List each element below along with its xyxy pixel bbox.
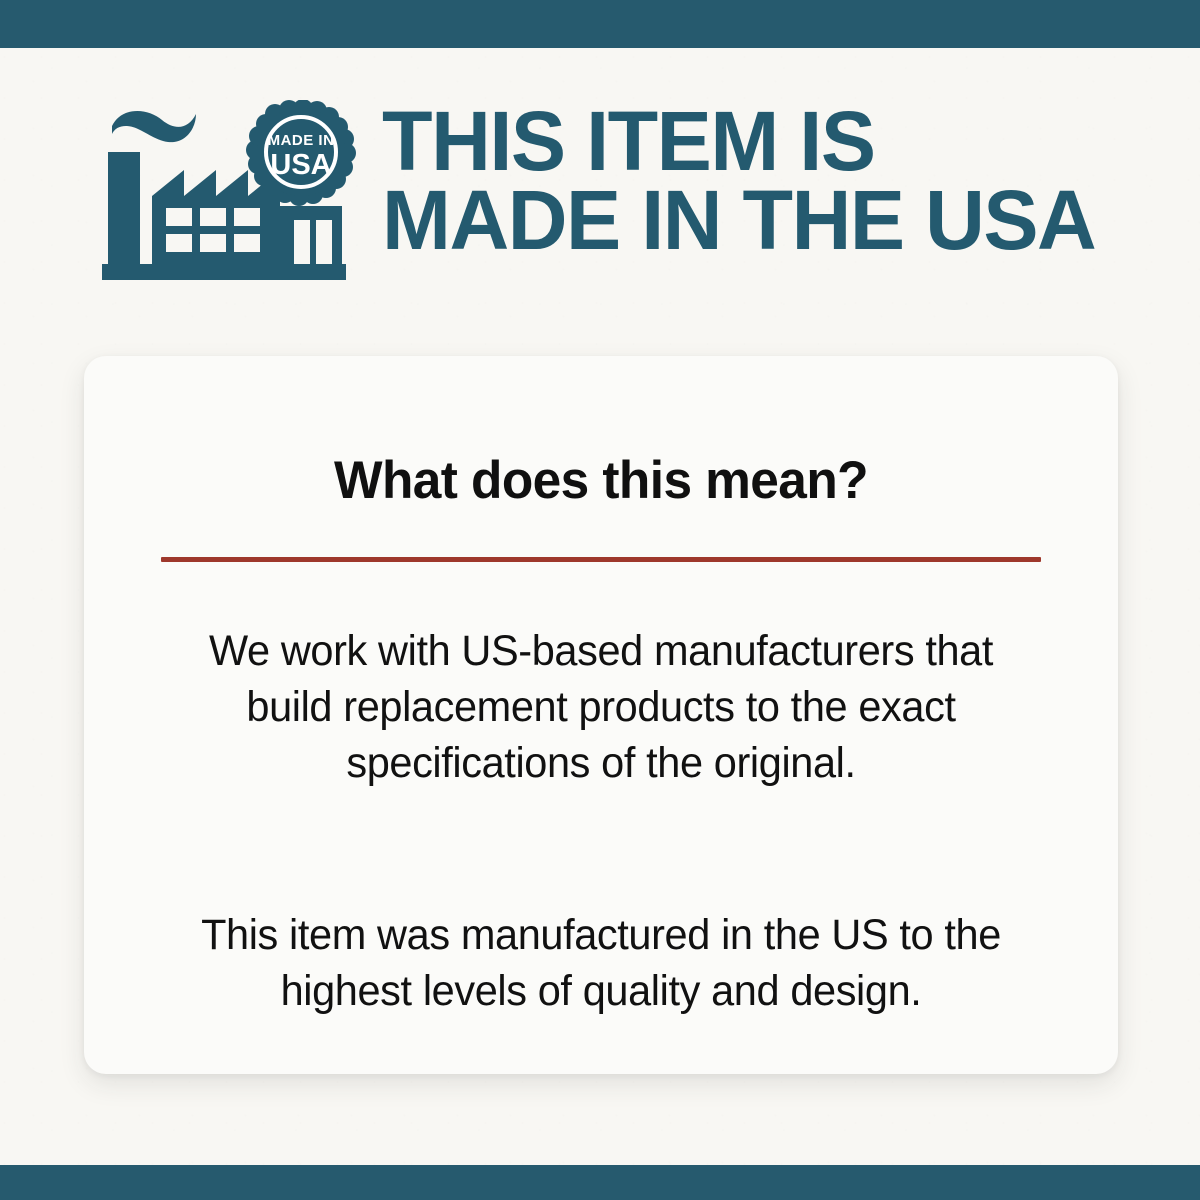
factory-window bbox=[234, 234, 260, 252]
factory-window bbox=[234, 208, 260, 226]
factory-window bbox=[200, 234, 226, 252]
factory-door-panel bbox=[294, 220, 310, 264]
bottom-accent-bar bbox=[0, 1165, 1200, 1200]
header: MADE IN USA THIS ITEM IS MADE IN THE USA bbox=[0, 100, 1200, 300]
page-root: MADE IN USA THIS ITEM IS MADE IN THE USA… bbox=[0, 0, 1200, 1200]
factory-window bbox=[166, 234, 192, 252]
info-card: What does this mean? We work with US-bas… bbox=[84, 356, 1118, 1074]
content-stage: MADE IN USA THIS ITEM IS MADE IN THE USA… bbox=[0, 48, 1200, 1165]
card-paragraph-2: This item was manufactured in the US to … bbox=[167, 792, 1036, 1020]
factory-window bbox=[166, 208, 192, 226]
factory-base bbox=[102, 264, 346, 280]
factory-chimney bbox=[108, 152, 140, 264]
factory-door-panel bbox=[316, 220, 332, 264]
factory-window bbox=[200, 208, 226, 226]
page-title-line-2: MADE IN THE USA bbox=[382, 181, 1095, 260]
badge-line-1: MADE IN bbox=[268, 132, 335, 149]
logo-block: MADE IN USA bbox=[100, 100, 360, 290]
smoke-puff-icon bbox=[112, 111, 196, 142]
top-accent-bar bbox=[0, 0, 1200, 48]
factory-icon: MADE IN USA bbox=[100, 100, 360, 290]
card-heading: What does this mean? bbox=[100, 356, 1103, 511]
badge-line-2: USA bbox=[270, 149, 331, 181]
factory-right-wing bbox=[280, 206, 342, 264]
page-title-line-1: THIS ITEM IS bbox=[382, 102, 1095, 181]
card-paragraph-1: We work with US-based manufacturers that… bbox=[167, 562, 1036, 792]
page-title: THIS ITEM IS MADE IN THE USA bbox=[382, 102, 1095, 260]
